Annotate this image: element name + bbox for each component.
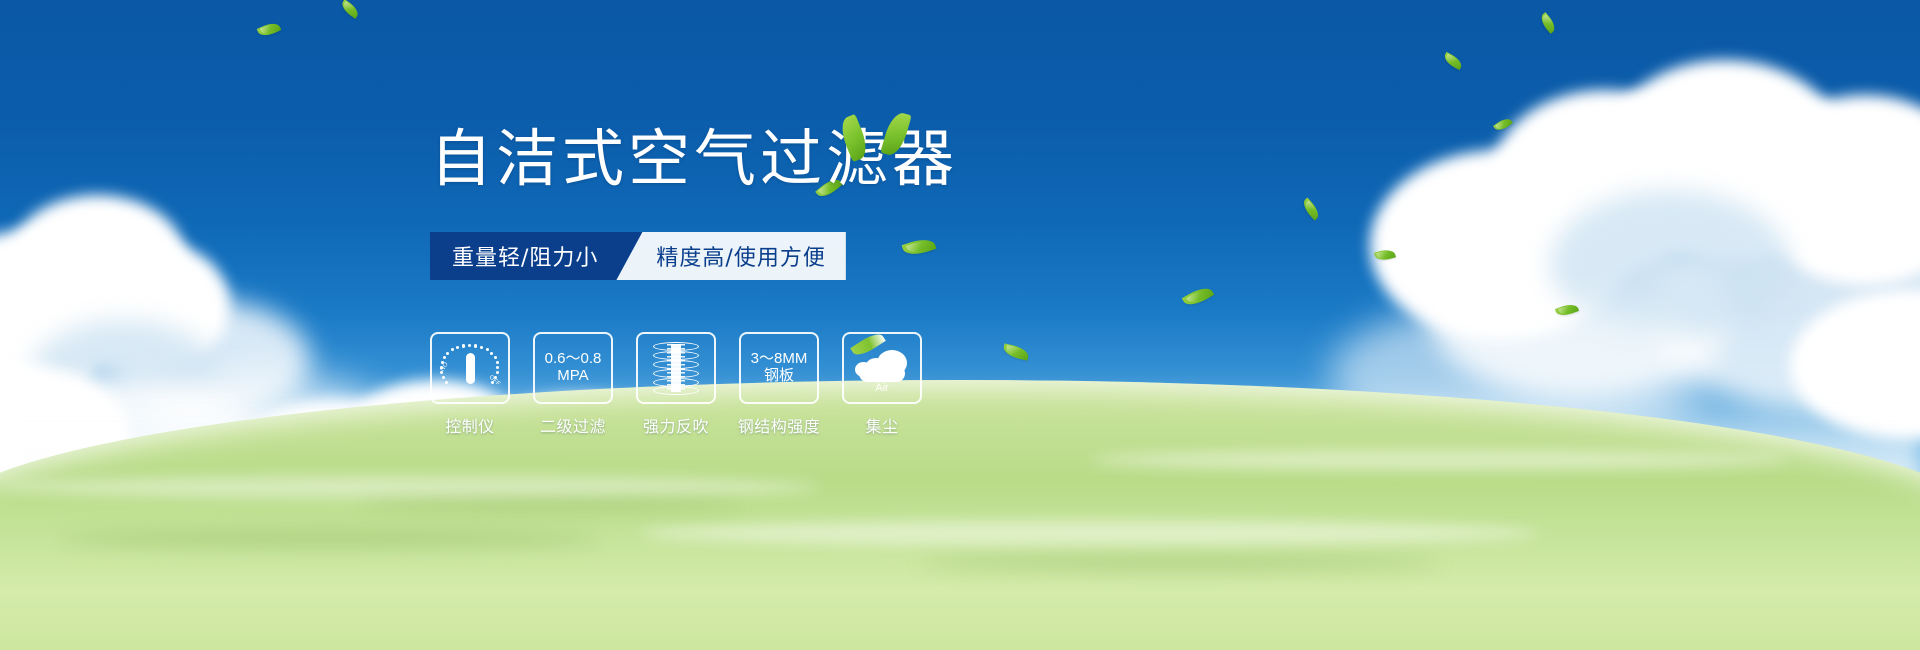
feature-item-controller: NO OFF 控制仪	[430, 332, 510, 437]
product-banner: 自洁式空气过滤器 重量轻/阻力小 精度高/使用方便	[0, 0, 1920, 650]
steel-value-line2: 钢板	[764, 368, 794, 385]
subtitle-right-tag: 精度高/使用方便	[616, 232, 845, 280]
pressure-value-line2: MPA	[557, 368, 588, 385]
filter-stack-icon	[653, 342, 699, 394]
sprout-decoration	[838, 112, 928, 164]
leaf-icon	[836, 114, 871, 162]
feature-icon-box: Air	[842, 332, 922, 404]
feature-icon-box: NO OFF	[430, 332, 510, 404]
feature-caption: 强力反吹	[643, 413, 709, 437]
feature-icon-box: 3～8MM 钢板	[739, 332, 819, 404]
subtitle-left-tag: 重量轻/阻力小	[430, 232, 642, 280]
feature-item-dust: Air 集尘	[842, 332, 922, 437]
feature-item-backblow: 强力反吹	[636, 332, 716, 437]
gauge-icon: NO OFF	[441, 342, 499, 394]
gauge-label-off: OFF	[488, 374, 502, 387]
feature-item-steel: 3～8MM 钢板 钢结构强度	[739, 332, 819, 437]
banner-content: 自洁式空气过滤器 重量轻/阻力小 精度高/使用方便	[0, 0, 1920, 650]
air-label: Air	[853, 382, 911, 394]
feature-list: NO OFF 控制仪 0.6～0.8 MPA 二级过滤	[430, 332, 922, 437]
pressure-value-line1: 0.6～0.8	[545, 351, 602, 368]
steel-value-line1: 3～8MM	[751, 351, 808, 368]
feature-caption: 集尘	[865, 413, 898, 437]
air-cloud-icon: Air	[853, 346, 911, 390]
gauge-needle	[466, 353, 475, 384]
leaf-icon	[880, 110, 911, 158]
feature-icon-box	[636, 332, 716, 404]
feature-caption: 钢结构强度	[738, 413, 821, 437]
feature-icon-box: 0.6～0.8 MPA	[533, 332, 613, 404]
feature-caption: 二级过滤	[540, 413, 606, 437]
subtitle-bar: 重量轻/阻力小 精度高/使用方便	[430, 232, 846, 280]
feature-caption: 控制仪	[445, 413, 495, 437]
feature-item-pressure: 0.6～0.8 MPA 二级过滤	[533, 332, 613, 437]
